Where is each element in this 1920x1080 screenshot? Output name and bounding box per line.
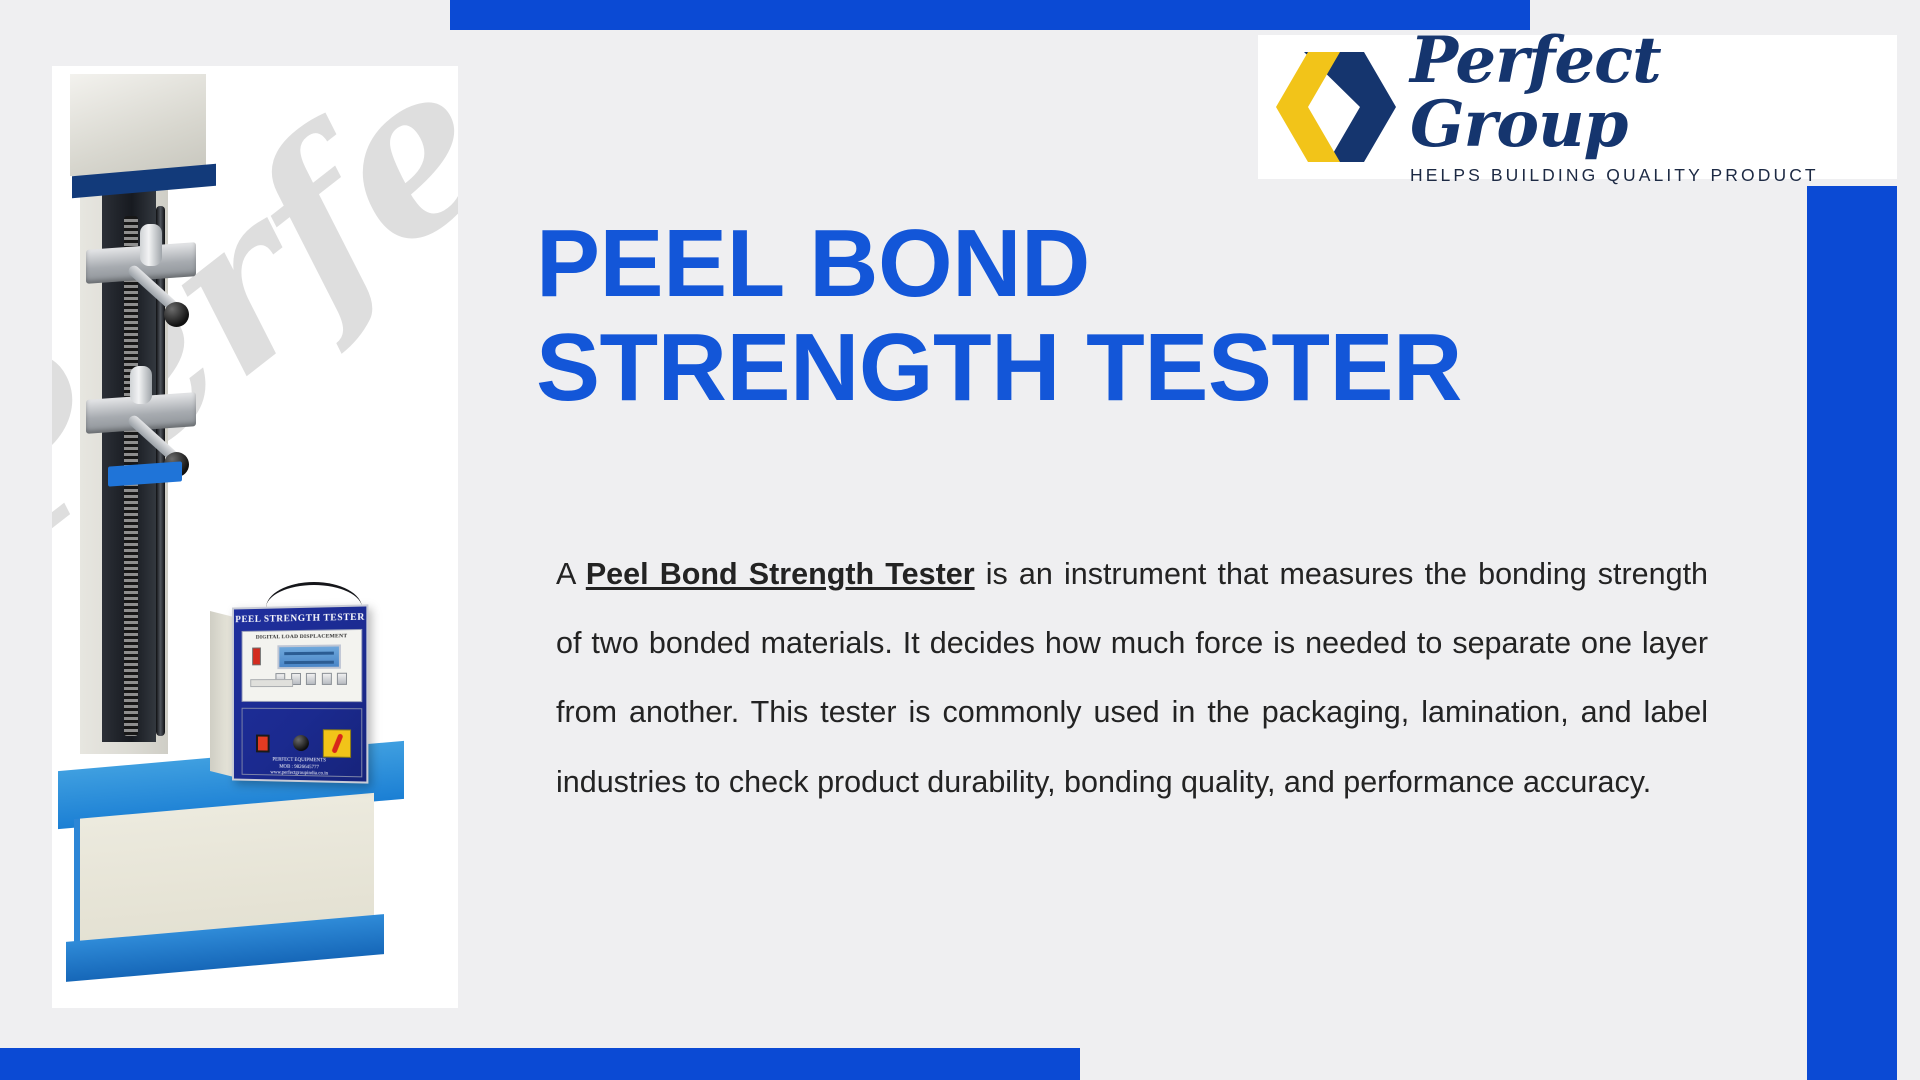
- manufacturer-mark: PERFECT EQUIPMENTS MOB : 9826645777 www.…: [234, 757, 366, 778]
- control-box-side: [210, 611, 234, 777]
- brand-logo: Perfect Group HELPS BUILDING QUALITY PRO…: [1258, 35, 1897, 179]
- keypad-button-3[interactable]: [306, 673, 316, 685]
- speed-knob[interactable]: [293, 735, 309, 751]
- product-photo-inner: Perfect: [52, 66, 458, 1008]
- maker-name: PERFECT EQUIPMENTS: [272, 758, 326, 764]
- lcd-display: [277, 644, 341, 669]
- maker-website: www.perfectgroupindia.co.in: [270, 770, 328, 776]
- keypad-button-5[interactable]: [337, 673, 347, 685]
- control-box: PEEL STRENGTH TESTER DIGITAL LOAD DISPLA…: [232, 604, 368, 783]
- machine-top-plate: [70, 74, 206, 176]
- machine-lower-cylinder: [130, 366, 152, 404]
- logo-wordmark-block: Perfect Group HELPS BUILDING QUALITY PRO…: [1410, 29, 1897, 186]
- control-panel-title: PEEL STRENGTH TESTER: [234, 613, 366, 626]
- logo-wordmark: Perfect Group: [1410, 29, 1897, 157]
- product-name-emphasis: Peel Bond Strength Tester: [586, 557, 975, 591]
- machine-upper-knob: [164, 302, 189, 327]
- description-lead-in: A: [556, 557, 586, 591]
- keypad-button-4[interactable]: [321, 673, 331, 685]
- maker-phone: MOB : 9826645777: [279, 764, 319, 770]
- description-paragraph: A Peel Bond Strength Tester is an instru…: [556, 540, 1708, 817]
- slide-canvas: Perfect: [0, 0, 1920, 1080]
- lcd-line-2: [284, 661, 334, 664]
- display-label: DIGITAL LOAD DISPLACEMENT: [243, 633, 362, 641]
- reset-switch[interactable]: [252, 647, 261, 665]
- machine-carriage: [108, 461, 182, 486]
- power-button[interactable]: [256, 735, 270, 753]
- decor-bar-bottom: [0, 1048, 1080, 1080]
- emergency-stop-switch[interactable]: [323, 729, 351, 758]
- control-panel-face: DIGITAL LOAD DISPLACEMENT: [242, 629, 363, 702]
- page-title-line-1: PEEL BOND: [536, 212, 1736, 316]
- page-title: PEEL BOND STRENGTH TESTER: [536, 212, 1736, 419]
- page-title-line-2: STRENGTH TESTER: [536, 316, 1736, 420]
- description-body: is an instrument that measures the bondi…: [556, 557, 1708, 799]
- product-photo: Perfect: [52, 66, 458, 1008]
- panel-label-strip: [250, 679, 293, 687]
- machine-upper-cylinder: [140, 224, 162, 266]
- peel-tester-machine-illustration: PEEL STRENGTH TESTER DIGITAL LOAD DISPLA…: [52, 66, 458, 1008]
- decor-bar-right: [1807, 186, 1897, 1080]
- perfect-group-arrow-icon: [1268, 44, 1400, 170]
- lcd-line-1: [284, 652, 334, 656]
- decor-bar-top: [450, 0, 1530, 30]
- logo-tagline: HELPS BUILDING QUALITY PRODUCT: [1410, 165, 1897, 186]
